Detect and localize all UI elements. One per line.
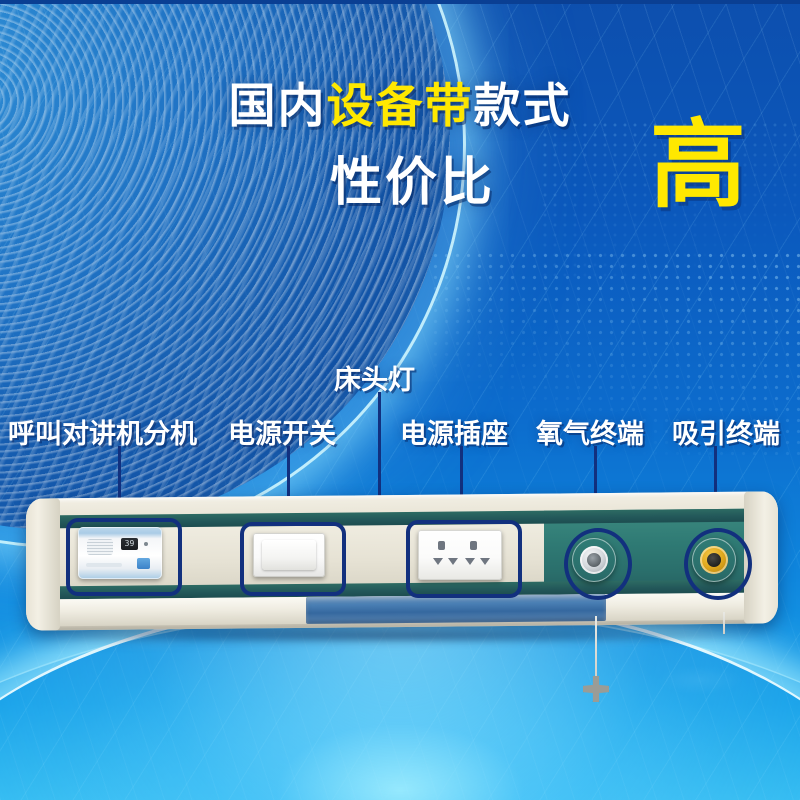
- promo-banner: 国内设备带款式 性价比 高 呼叫对讲机分机 电源开关 床头灯 电源插座 氧气终端…: [0, 0, 800, 800]
- bedside-lamp-diffuser: [306, 594, 606, 624]
- headline-prefix: 国内: [229, 79, 327, 132]
- callout-label-power-switch: 电源开关: [228, 412, 336, 451]
- callout-label-nurse-call-intercom: 呼叫对讲机分机: [8, 412, 197, 451]
- terminal-cord-secondary: [723, 612, 725, 634]
- highlight-circle-oxygen-terminal: [564, 528, 632, 600]
- callout-label-bedside-lamp: 床头灯: [334, 358, 415, 397]
- callout-label-suction-terminal: 吸引终端: [672, 412, 780, 451]
- panel-end-cap-left: [26, 498, 60, 630]
- highlight-box-power-switch: [240, 522, 346, 596]
- callout-label-power-socket: 电源插座: [400, 412, 508, 451]
- headline-line-2: 性价比: [330, 140, 495, 215]
- headline-accent: 设备带: [327, 79, 474, 132]
- highlight-box-power-socket: [406, 520, 522, 598]
- suction-pull-cord: [595, 616, 597, 684]
- top-edge-bar: [0, 0, 800, 4]
- callout-label-oxygen-terminal: 氧气终端: [536, 412, 644, 451]
- highlight-circle-suction-terminal: [684, 528, 752, 600]
- highlight-box-nurse-call-intercom: [66, 518, 182, 596]
- headline-suffix: 款式: [474, 79, 572, 132]
- headline-emphasis-char: 高: [650, 118, 746, 214]
